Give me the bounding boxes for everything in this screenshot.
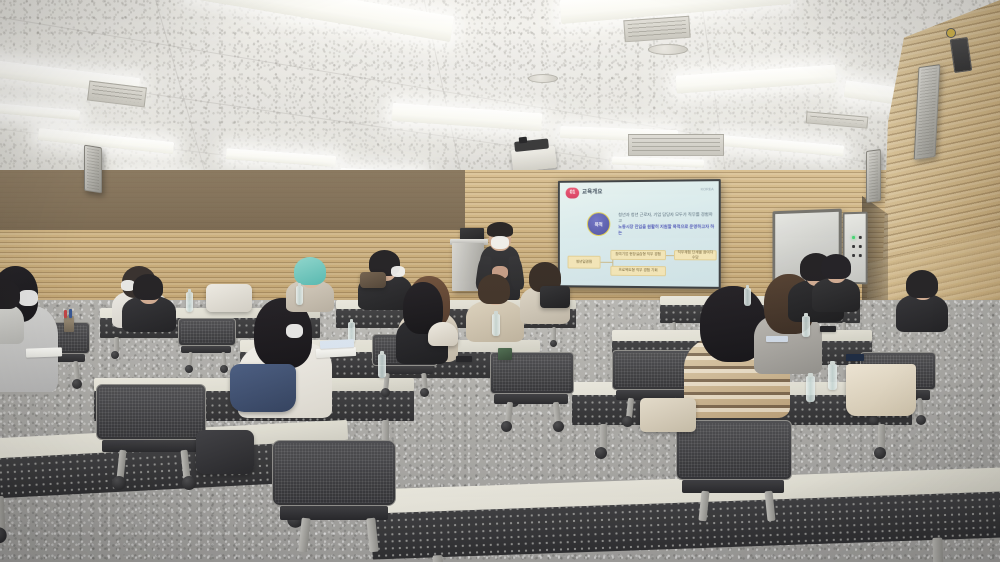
- water-bottle: [828, 364, 837, 390]
- ceiling-light: [612, 156, 704, 167]
- ceiling-light: [676, 64, 837, 93]
- backpack: [196, 430, 254, 474]
- attendee-back-right: [896, 270, 950, 328]
- mesh-back-chair[interactable]: [178, 318, 236, 372]
- wall-speaker-left: [84, 145, 102, 194]
- slide-body-line2: 노동시장 진입을 원활히 지원할 목적으로 운영하고자 하는: [618, 224, 714, 236]
- ceiling-light: [38, 128, 175, 154]
- attendee-center-5: [396, 282, 450, 358]
- tote-bag: [846, 364, 916, 416]
- ceiling-air-vent: [806, 111, 869, 128]
- attendee-far-left: [0, 280, 26, 340]
- slide-box-mid-2: 프로젝트형 직무 경험 기회: [610, 266, 666, 276]
- water-bottle: [492, 314, 500, 336]
- ceiling-air-vent: [628, 134, 724, 156]
- ceiling-round-speaker: [528, 74, 558, 83]
- mesh-back-chair[interactable]: [676, 420, 792, 530]
- slide-badge: 01: [566, 188, 580, 199]
- ceiling-round-speaker: [648, 44, 688, 55]
- mesh-back-chair[interactable]: [96, 384, 206, 488]
- wall-cable-mount: [946, 28, 956, 38]
- projection-screen: 01 교육개요 KOREA 목적 청년과 청년 근로자, 기업 담당자 모두가 …: [558, 179, 721, 289]
- water-bottle: [296, 286, 303, 305]
- slide-circle-label: 목적: [587, 212, 610, 236]
- ceiling-light: [392, 103, 543, 131]
- ceiling-light: [226, 148, 336, 167]
- water-bottle: [378, 354, 386, 378]
- ceiling-light: [0, 102, 80, 121]
- wall-upper-dark-band: [0, 170, 465, 230]
- backpack: [230, 364, 296, 412]
- tote-bag: [428, 322, 458, 346]
- water-bottle: [186, 292, 193, 312]
- slide-box-left: 청년일경험: [568, 256, 601, 269]
- slide-body-line1: 청년과 청년 근로자, 기업 담당자 모두가 직무를 경험하고: [618, 212, 714, 224]
- ceiling-light: [186, 0, 455, 42]
- face-mask: [286, 324, 303, 338]
- slide-box-mid-1: 참여기업 현장실습형 직무 경험: [610, 250, 666, 260]
- smartphone: [456, 356, 472, 362]
- smartphone: [846, 354, 864, 361]
- water-bottle: [802, 316, 810, 337]
- attendee-left-3: [122, 276, 178, 328]
- attendee-right-4: [812, 256, 862, 308]
- ceiling-light: [716, 134, 844, 156]
- jacket-on-chair: [206, 284, 252, 312]
- handbag: [540, 286, 570, 308]
- ceiling-air-vent: [623, 16, 690, 43]
- slide-box-right: 직무체험 단계별 참여자 수당: [674, 250, 717, 260]
- slide-logo: KOREA: [701, 187, 714, 191]
- pen-holder: [69, 309, 72, 318]
- slide-body-text: 청년과 청년 근로자, 기업 담당자 모두가 직무를 경험하고 노동시장 진입을…: [618, 212, 714, 236]
- water-bottle: [744, 288, 751, 306]
- mesh-back-chair[interactable]: [272, 440, 396, 560]
- mint-hair: [294, 257, 326, 285]
- paper-handout: [26, 347, 62, 357]
- smartphone: [820, 326, 836, 332]
- slide-content: 01 교육개요 KOREA 목적 청년과 청년 근로자, 기업 담당자 모두가 …: [560, 181, 719, 287]
- slide-title: 교육개요: [582, 187, 603, 198]
- presenter-mask: [491, 236, 509, 249]
- classroom-photo: 01 교육개요 KOREA 목적 청년과 청년 근로자, 기업 담당자 모두가 …: [0, 0, 1000, 562]
- handbag: [360, 272, 386, 288]
- paper-handout: [766, 336, 788, 342]
- attendee-center-2: [286, 258, 336, 308]
- wall-speaker-right-front: [866, 149, 881, 203]
- mesh-back-chair[interactable]: [490, 352, 574, 432]
- ceiling-projector: [511, 146, 557, 172]
- presenter-hair: [487, 222, 513, 237]
- green-box: [498, 348, 512, 360]
- pen-holder: [64, 310, 67, 318]
- tote-bag: [640, 398, 696, 432]
- water-bottle: [806, 376, 815, 402]
- pen-holder: [64, 316, 74, 332]
